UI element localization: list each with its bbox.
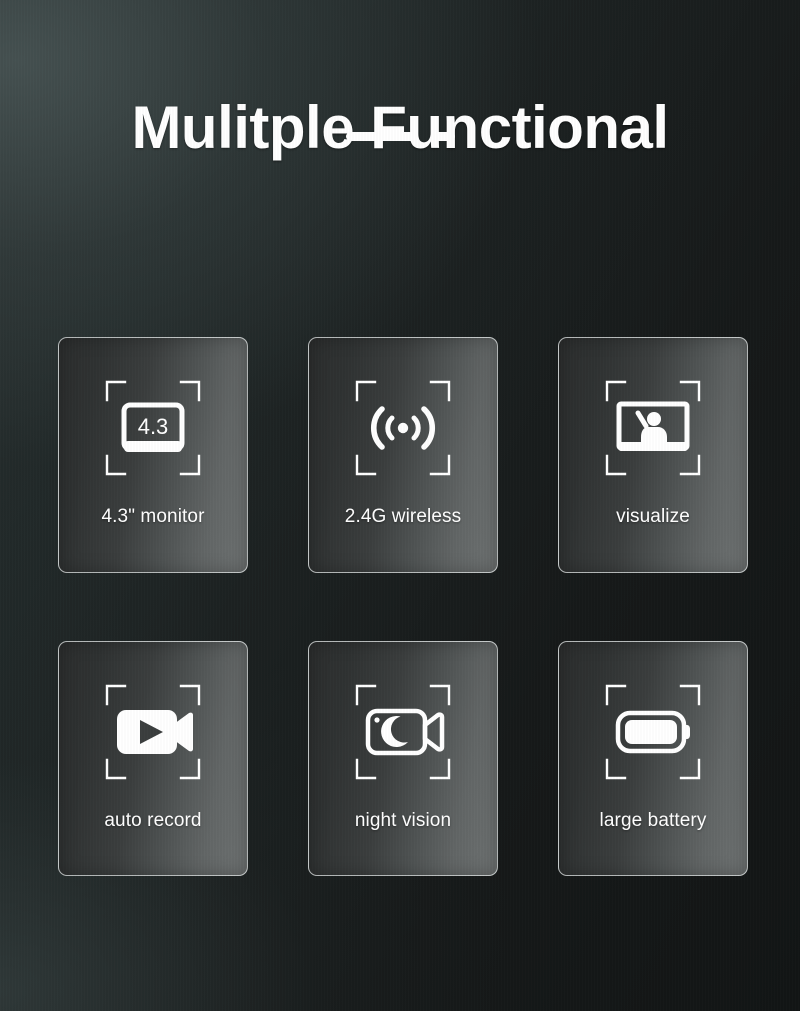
video-camera-play-icon bbox=[103, 682, 203, 782]
feature-card-wireless[interactable]: 2.4G wireless bbox=[308, 337, 498, 573]
video-camera-moon-icon bbox=[353, 682, 453, 782]
person-on-screen-icon bbox=[603, 378, 703, 478]
monitor-size-value: 4.3 bbox=[138, 414, 169, 439]
feature-card-night-vision[interactable]: night vision bbox=[308, 641, 498, 876]
feature-showcase-page: Mulitple Functional 4.3 bbox=[0, 0, 800, 1011]
page-title: Mulitple Functional bbox=[0, 96, 800, 159]
feature-label-wireless: 2.4G wireless bbox=[309, 506, 497, 528]
divider-long-dash bbox=[346, 132, 418, 141]
monitor-screen-icon: 4.3 bbox=[103, 378, 203, 478]
feature-grid: 4.3 4.3" monitor bbox=[58, 337, 742, 876]
feature-label-large-battery: large battery bbox=[559, 810, 747, 832]
title-divider bbox=[0, 132, 800, 141]
wireless-signal-icon bbox=[353, 378, 453, 478]
divider-short-dash bbox=[434, 132, 455, 141]
feature-label-auto-record: auto record bbox=[59, 810, 247, 832]
feature-label-night-vision: night vision bbox=[309, 810, 497, 832]
feature-label-visualize: visualize bbox=[559, 506, 747, 528]
feature-label-monitor: 4.3" monitor bbox=[59, 506, 247, 528]
feature-card-monitor[interactable]: 4.3 4.3" monitor bbox=[58, 337, 248, 573]
battery-full-icon bbox=[603, 682, 703, 782]
feature-card-large-battery[interactable]: large battery bbox=[558, 641, 748, 876]
page-header: Mulitple Functional bbox=[0, 96, 800, 159]
feature-card-auto-record[interactable]: auto record bbox=[58, 641, 248, 876]
feature-card-visualize[interactable]: visualize bbox=[558, 337, 748, 573]
